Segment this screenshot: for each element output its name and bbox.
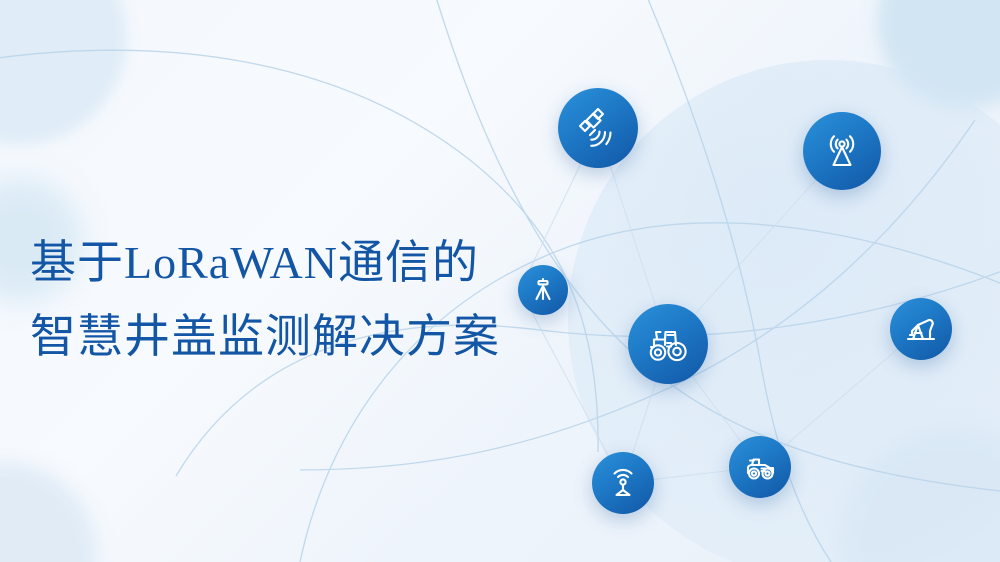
node-satellite[interactable] <box>558 88 638 168</box>
node-wireless-sensor[interactable] <box>592 452 654 514</box>
decor-blob-top-right <box>877 0 1000 109</box>
decor-blob-bottom-left <box>0 462 97 562</box>
node-radio-tower[interactable] <box>803 112 881 190</box>
title-line-1: 基于LoRaWAN通信的 <box>30 226 590 300</box>
presentation-cover-slide: 基于LoRaWAN通信的 智慧井盖监测解决方案 <box>0 0 1000 562</box>
node-harvester-vehicle[interactable] <box>729 436 791 498</box>
satellite-signal-icon <box>577 107 619 149</box>
page-title: 基于LoRaWAN通信的 智慧井盖监测解决方案 <box>30 226 590 374</box>
harvester-vehicle-icon <box>742 449 778 485</box>
wireless-sensor-icon <box>606 466 640 500</box>
decor-blob-top-left <box>0 0 127 145</box>
radio-tower-icon <box>821 130 863 172</box>
oil-pumpjack-icon <box>903 311 939 347</box>
tractor-icon <box>645 321 691 367</box>
node-tractor[interactable] <box>628 304 708 384</box>
node-oil-pumpjack[interactable] <box>890 298 952 360</box>
title-line-2: 智慧井盖监测解决方案 <box>30 300 590 374</box>
decor-blob-bottom-right <box>840 428 1000 562</box>
